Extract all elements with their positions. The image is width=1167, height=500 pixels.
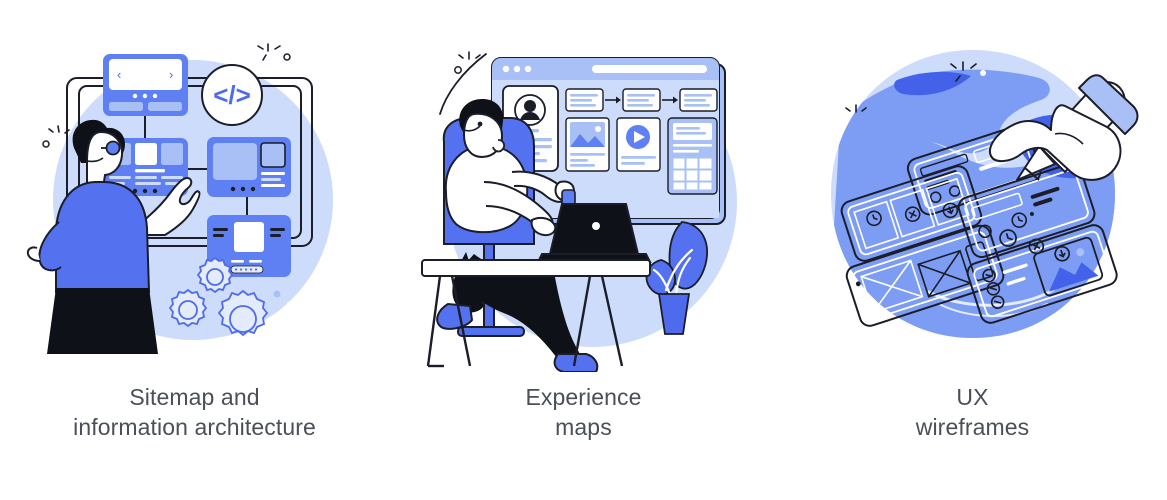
illustration-set: ‹ › </> (0, 0, 1167, 500)
dot-icon-2 (837, 121, 845, 129)
item-ux-wireframes: UX wireframes (778, 0, 1167, 500)
carousel-card-icon: ‹ › (103, 54, 188, 116)
image-card-icon (566, 118, 609, 171)
sparkle-icon (258, 44, 280, 60)
dot-icon (454, 67, 460, 73)
sitemap-illustration: ‹ › </> (25, 22, 365, 372)
dot-icon (980, 70, 986, 76)
code-bracket-icon: </> (202, 65, 262, 125)
caption-line2: information architecture (73, 412, 316, 442)
dot-icon-4 (286, 302, 290, 306)
item-sitemap: ‹ › </> (0, 0, 389, 500)
experience-maps-illustration (414, 22, 754, 372)
window-dots-icon (502, 66, 530, 72)
caption-line1: Sitemap and (129, 384, 259, 410)
caption-ux-wireframes: UX wireframes (916, 382, 1029, 442)
svg-text:›: › (169, 67, 173, 82)
media-card-icon (207, 137, 291, 197)
video-play-icon (617, 118, 660, 171)
sparkle-icon (459, 52, 480, 59)
flow-arrow-icon (566, 89, 717, 111)
svg-text:</>: </> (213, 80, 251, 110)
caption-sitemap: Sitemap and information architecture (73, 382, 316, 442)
ux-wireframes-illustration (803, 22, 1143, 372)
caption-line2: wireframes (916, 412, 1029, 442)
dot-icon (284, 54, 290, 60)
dot-icon-2 (43, 141, 49, 147)
caption-line1: Experience (525, 384, 641, 410)
item-experience-maps: Experience maps (389, 0, 778, 500)
dot-icon-3 (273, 291, 280, 298)
grid-card-icon (668, 118, 717, 194)
caption-line1: UX (956, 384, 988, 410)
caption-experience-maps: Experience maps (525, 382, 641, 442)
svg-text:‹: ‹ (117, 67, 121, 82)
caption-line2: maps (525, 412, 641, 442)
